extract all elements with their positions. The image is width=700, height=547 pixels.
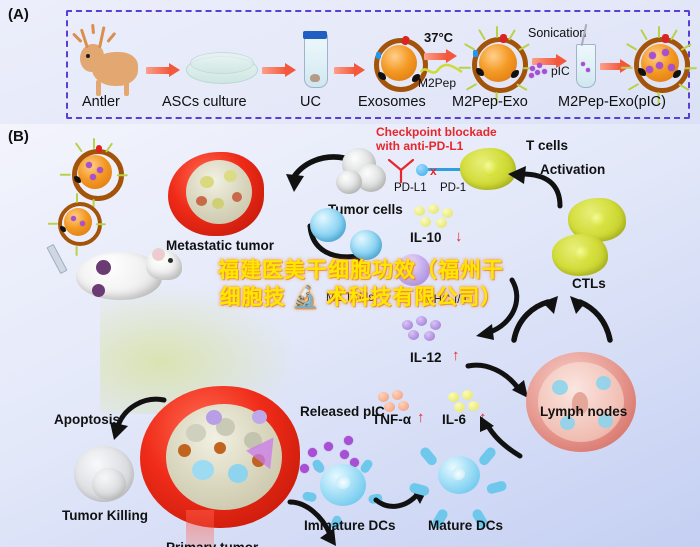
immature-dcs-label: Immature DCs [304,518,396,533]
mhc-label: MHC-I/II [424,294,467,306]
step-label-m2pepexopic: M2Pep-Exo(pIC) [558,94,666,110]
peptide-exosome-icon [464,30,530,92]
panel-b-tag: (B) [8,128,29,145]
m2-tams-label: M2 TAMs [326,292,374,304]
panel-a-tag: (A) [8,6,29,23]
panel-a: (A) [0,0,700,124]
loaded-exosome-icon [626,30,690,92]
m2pep-label: M2Pep [418,76,456,90]
pdl1-label: PD-L1 [394,182,427,194]
metastatic-tumor-label: Metastatic tumor [166,238,274,253]
checkpoint-blockade-line1: Checkpoint blockade [376,126,497,139]
arrow-apoptosis [108,394,168,446]
step-label-uc: UC [300,94,321,110]
sonication-label: Sonication [528,26,586,40]
il12-trend-arrow: ↑ [452,347,460,364]
step-label-ascs: ASCs culture [162,94,247,110]
injected-exosome-icon-2 [52,196,102,246]
checkpoint-blockade-line2: with anti-PD-L1 [376,140,463,153]
arrow-mhc-to-il12 [466,274,526,344]
il10-trend-arrow: ↓ [455,228,463,245]
anti-pdl1-antibody-icon [384,154,418,184]
figure-canvas: (A) [0,0,700,547]
pdl1-receptor-icon [416,164,428,176]
injected-exosome-icon-1 [64,142,124,200]
il6-label: IL-6 [442,412,466,427]
tnfa-trend-arrow: ↑ [417,409,425,426]
blockade-x-mark: x [430,164,437,178]
step-label-antler: Antler [82,94,120,110]
primary-tumor-label: Primary tumor [166,540,258,547]
temperature-label: 37°C [424,30,453,45]
step-label-exosomes: Exosomes [358,94,426,110]
tumor-killing-label: Tumor Killing [62,508,148,523]
tnfa-label: TNF-α [372,412,411,427]
lymph-nodes-label: Lymph nodes [540,404,627,419]
activation-label: Activation [540,162,605,177]
pd1-label: PD-1 [440,182,466,194]
il12-label: IL-12 [410,350,442,365]
mature-dcs-label: Mature DCs [428,518,503,533]
arrow-dcs-to-cytokines [476,414,530,460]
il10-label: IL-10 [410,230,442,245]
arrow-to-ctls-right [566,286,618,342]
t-cells-label: T cells [526,138,568,153]
syringe-icon [46,244,67,274]
panel-b: (B) [0,124,700,547]
step-label-m2pepexo: M2Pep-Exo [452,94,528,110]
pic-label: pIC [551,64,570,78]
